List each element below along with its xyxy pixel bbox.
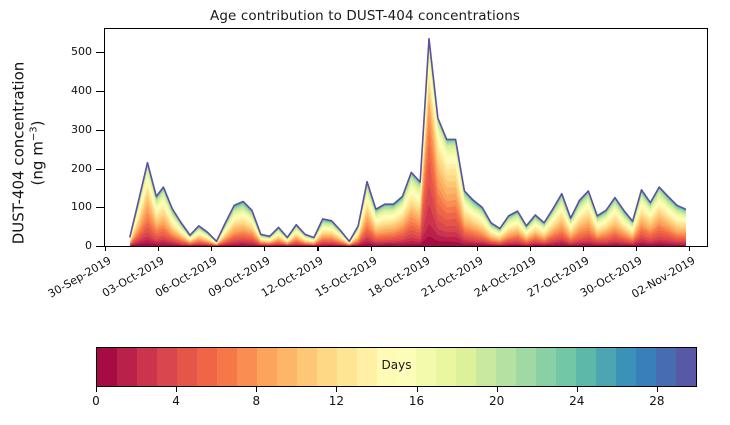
y-axis-label: DUST-404 concentration (ng m−3) bbox=[11, 31, 51, 276]
colorbar-tick bbox=[256, 387, 257, 392]
x-axis-tick bbox=[530, 247, 531, 251]
y-axis-tick-label: 0 bbox=[48, 239, 92, 252]
colorbar-tick-label: 20 bbox=[477, 394, 517, 408]
colorbar-tick-label: 16 bbox=[397, 394, 437, 408]
y-axis-tick bbox=[96, 207, 104, 208]
colorbar-tick-label: 8 bbox=[236, 394, 276, 408]
colorbar-band bbox=[416, 348, 437, 386]
y-axis-tick bbox=[96, 246, 104, 247]
colorbar-band bbox=[656, 348, 677, 386]
colorbar-band bbox=[177, 348, 198, 386]
colorbar-tick bbox=[336, 387, 337, 392]
colorbar-band bbox=[317, 348, 338, 386]
colorbar-tick-label: 4 bbox=[156, 394, 196, 408]
chart-title: Age contribution to DUST-404 concentrati… bbox=[0, 8, 730, 24]
x-axis-tick bbox=[264, 247, 265, 251]
colorbar-band bbox=[137, 348, 158, 386]
stacked-area-series bbox=[105, 29, 707, 246]
colorbar-band bbox=[237, 348, 258, 386]
colorbar-band bbox=[97, 348, 118, 386]
y-axis-tick-label: 400 bbox=[48, 84, 92, 97]
colorbar-band bbox=[217, 348, 238, 386]
colorbar-band bbox=[436, 348, 457, 386]
colorbar-band bbox=[476, 348, 497, 386]
plot-area bbox=[104, 28, 708, 247]
x-axis-tick bbox=[371, 247, 372, 251]
colorbar-tick-label: 28 bbox=[637, 394, 677, 408]
colorbar-tick bbox=[176, 387, 177, 392]
colorbar-band bbox=[556, 348, 577, 386]
y-axis-tick-label: 500 bbox=[48, 45, 92, 58]
y-axis-tick bbox=[96, 91, 104, 92]
y-axis-tick-label: 300 bbox=[48, 123, 92, 136]
y-axis-tick bbox=[96, 169, 104, 170]
colorbar-band bbox=[117, 348, 138, 386]
x-axis-tick bbox=[105, 247, 106, 251]
colorbar-band bbox=[496, 348, 517, 386]
colorbar-band bbox=[596, 348, 617, 386]
colorbar-tick bbox=[497, 387, 498, 392]
colorbar-tick bbox=[96, 387, 97, 392]
colorbar-band bbox=[536, 348, 557, 386]
colorbar-band bbox=[636, 348, 657, 386]
x-axis-tick bbox=[211, 247, 212, 251]
colorbar-band bbox=[516, 348, 537, 386]
colorbar-tick-label: 12 bbox=[316, 394, 356, 408]
colorbar-band bbox=[377, 348, 398, 386]
colorbar-band bbox=[257, 348, 278, 386]
figure-root: Age contribution to DUST-404 concentrati… bbox=[0, 0, 730, 425]
y-axis-tick-label: 200 bbox=[48, 162, 92, 175]
colorbar-tick bbox=[417, 387, 418, 392]
colorbar-tick bbox=[577, 387, 578, 392]
x-axis-tick bbox=[158, 247, 159, 251]
y-axis-tick bbox=[96, 130, 104, 131]
colorbar-tick-label: 24 bbox=[557, 394, 597, 408]
colorbar-band bbox=[337, 348, 358, 386]
x-axis-tick bbox=[636, 247, 637, 251]
colorbar-band bbox=[397, 348, 418, 386]
colorbar-tick-label: 0 bbox=[76, 394, 116, 408]
colorbar-band bbox=[676, 348, 697, 386]
x-axis-tick bbox=[317, 247, 318, 251]
y-axis-label-line2: (ng m−3) bbox=[28, 31, 47, 276]
x-axis-tick bbox=[424, 247, 425, 251]
colorbar-band bbox=[297, 348, 318, 386]
colorbar-band bbox=[576, 348, 597, 386]
colorbar-band bbox=[456, 348, 477, 386]
y-axis-units-pre: (ng m bbox=[28, 141, 46, 185]
x-axis-tick bbox=[689, 247, 690, 251]
y-axis-units-post: ) bbox=[28, 121, 46, 127]
colorbar-band bbox=[357, 348, 378, 386]
y-axis-tick bbox=[96, 52, 104, 53]
colorbar-band bbox=[157, 348, 178, 386]
y-axis-units-exponent: −3 bbox=[28, 126, 39, 141]
x-axis-tick bbox=[477, 247, 478, 251]
x-axis-tick bbox=[583, 247, 584, 251]
colorbar-band bbox=[616, 348, 637, 386]
colorbar[interactable] bbox=[96, 347, 697, 387]
y-axis-label-line1: DUST-404 concentration bbox=[11, 31, 29, 276]
y-axis-tick-label: 100 bbox=[48, 200, 92, 213]
colorbar-band bbox=[197, 348, 218, 386]
colorbar-tick bbox=[657, 387, 658, 392]
colorbar-band bbox=[277, 348, 298, 386]
